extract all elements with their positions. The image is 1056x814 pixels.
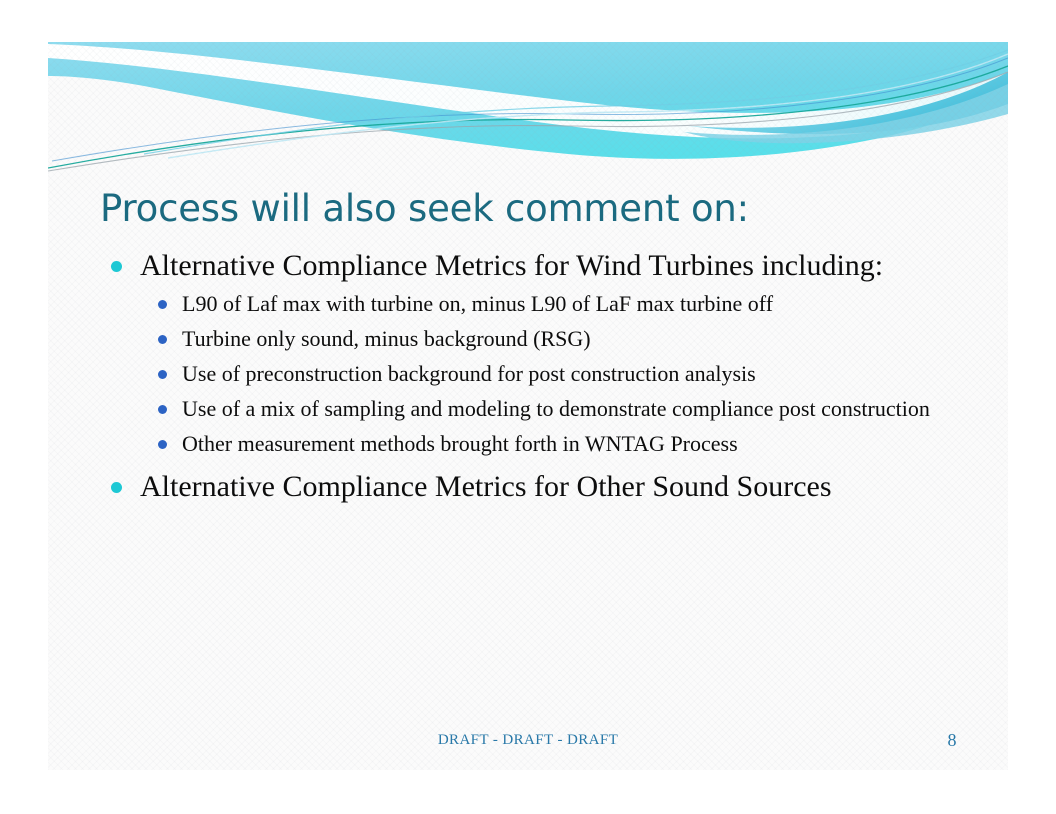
bullet-level2-text: Use of a mix of sampling and modeling to…: [182, 396, 930, 421]
bullet-level1: Alternative Compliance Metrics for Other…: [100, 468, 980, 505]
bullet-level1-text: Alternative Compliance Metrics for Other…: [140, 470, 832, 503]
slide-body-bullet-list: Alternative Compliance Metrics for Wind …: [100, 247, 980, 511]
footer-draft-label: DRAFT - DRAFT - DRAFT: [48, 732, 1008, 749]
bullet-level2-text: L90 of Laf max with turbine on, minus L9…: [182, 291, 773, 316]
bullet-marker-level1-icon: [111, 482, 122, 493]
bullet-level2: L90 of Laf max with turbine on, minus L9…: [100, 290, 980, 318]
bullet-level2: Turbine only sound, minus background (RS…: [100, 325, 980, 353]
presentation-slide: Process will also seek comment on: Alter…: [48, 42, 1008, 770]
bullet-level1: Alternative Compliance Metrics for Wind …: [100, 247, 980, 284]
bullet-marker-level2-icon: [158, 300, 167, 309]
slide-content: Process will also seek comment on: Alter…: [48, 42, 1008, 770]
bullet-marker-level2-icon: [158, 405, 167, 414]
bullet-level2-group: L90 of Laf max with turbine on, minus L9…: [100, 290, 980, 458]
bullet-level2: Use of preconstruction background for po…: [100, 360, 980, 388]
bullet-level2: Other measurement methods brought forth …: [100, 430, 980, 458]
bullet-marker-level1-icon: [111, 261, 122, 272]
slide-title: Process will also seek comment on:: [100, 186, 960, 232]
slide-number: 8: [928, 730, 976, 751]
bullet-marker-level2-icon: [158, 370, 167, 379]
bullet-marker-level2-icon: [158, 440, 167, 449]
bullet-marker-level2-icon: [158, 335, 167, 344]
bullet-level2: Use of a mix of sampling and modeling to…: [100, 395, 980, 423]
bullet-level2-text: Turbine only sound, minus background (RS…: [182, 326, 591, 351]
bullet-level1-text: Alternative Compliance Metrics for Wind …: [140, 249, 883, 282]
bullet-level2-text: Use of preconstruction background for po…: [182, 361, 756, 386]
bullet-level2-text: Other measurement methods brought forth …: [182, 431, 738, 456]
